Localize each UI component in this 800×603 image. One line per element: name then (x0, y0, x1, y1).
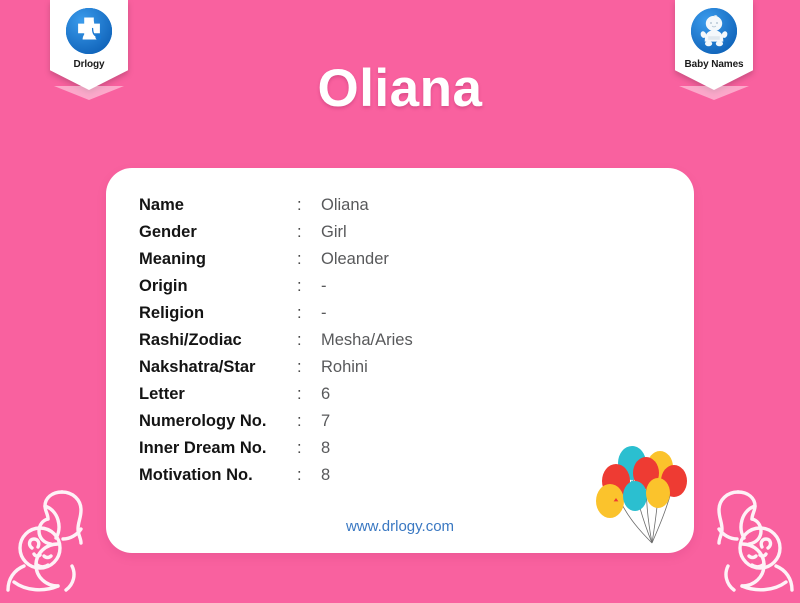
table-row: Origin : - (139, 273, 413, 300)
row-separator: : (297, 408, 321, 435)
row-separator: : (297, 354, 321, 381)
row-value: 6 (321, 381, 413, 408)
row-separator: : (297, 327, 321, 354)
row-value: - (321, 273, 413, 300)
table-row: Rashi/Zodiac : Mesha/Aries (139, 327, 413, 354)
table-row: Meaning : Oleander (139, 246, 413, 273)
row-value: - (321, 300, 413, 327)
row-label: Name (139, 192, 297, 219)
mother-and-baby-motif-right (692, 478, 800, 598)
table-row: Motivation No. : 8 (139, 462, 413, 489)
row-label: Rashi/Zodiac (139, 327, 297, 354)
row-value: Mesha/Aries (321, 327, 413, 354)
balloon-cluster-icon (594, 441, 690, 553)
table-row: Nakshatra/Star : Rohini (139, 354, 413, 381)
row-label: Religion (139, 300, 297, 327)
table-row: Letter : 6 (139, 381, 413, 408)
baby-icon (691, 8, 737, 54)
row-value: 8 (321, 435, 413, 462)
doctor-medical-cross-icon (66, 8, 112, 54)
row-value: Oleander (321, 246, 413, 273)
row-separator: : (297, 381, 321, 408)
row-separator: : (297, 273, 321, 300)
row-separator: : (297, 300, 321, 327)
row-label: Motivation No. (139, 462, 297, 489)
mother-and-baby-motif-left (0, 478, 108, 598)
row-label: Numerology No. (139, 408, 297, 435)
table-row: Name : Oliana (139, 192, 413, 219)
row-label: Nakshatra/Star (139, 354, 297, 381)
row-value: 7 (321, 408, 413, 435)
row-value: Girl (321, 219, 413, 246)
row-separator: : (297, 246, 321, 273)
row-label: Meaning (139, 246, 297, 273)
table-row: Gender : Girl (139, 219, 413, 246)
page-title: Oliana (0, 62, 800, 115)
row-separator: : (297, 462, 321, 489)
row-label: Origin (139, 273, 297, 300)
row-value: 8 (321, 462, 413, 489)
row-label: Inner Dream No. (139, 435, 297, 462)
row-separator: : (297, 192, 321, 219)
table-row: Religion : - (139, 300, 413, 327)
row-value: Rohini (321, 354, 413, 381)
row-label: Gender (139, 219, 297, 246)
row-separator: : (297, 435, 321, 462)
table-row: Inner Dream No. : 8 (139, 435, 413, 462)
row-separator: : (297, 219, 321, 246)
row-value: Oliana (321, 192, 413, 219)
name-info-card: Name : Oliana Gender : Girl Meaning : Ol… (106, 168, 694, 553)
name-details-table: Name : Oliana Gender : Girl Meaning : Ol… (139, 192, 413, 489)
table-row: Numerology No. : 7 (139, 408, 413, 435)
website-url-link[interactable]: www.drlogy.com (106, 518, 694, 535)
row-label: Letter (139, 381, 297, 408)
